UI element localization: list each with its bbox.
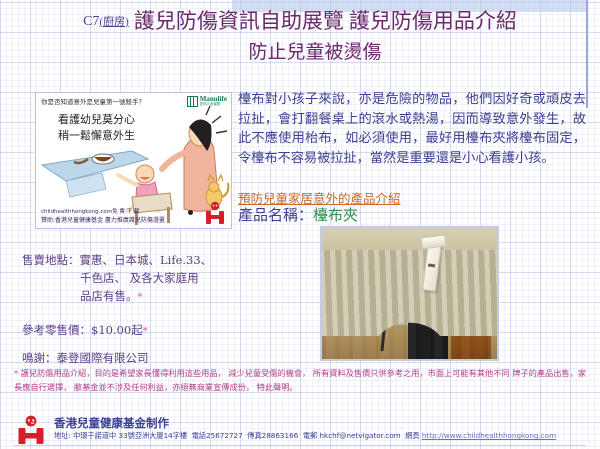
header-title-line-2: 防止兒童被燙傷 (0, 37, 600, 64)
disclaimer-text: * 護兒防傷用品介紹，目的是希望家長懂得利用這些用品， 減少兒童受傷的機會， 所… (14, 366, 586, 395)
acknowledgement-label: 鳴謝： (22, 351, 57, 365)
website-label: 網頁 (405, 431, 419, 440)
phone-value: 25672727 (206, 431, 243, 440)
email-value: hkchf@netvigator.com (320, 431, 401, 440)
clip-notch (428, 264, 435, 268)
product-name-value: 檯布夾 (313, 206, 358, 224)
selling-locations-line-2: 千色店、 及各大家庭用 (22, 270, 237, 288)
product-photo (320, 226, 499, 361)
address-value: 中環干諾道中 33號亞洲大廈14字樓 (73, 431, 187, 440)
photo-draped-cloth (322, 250, 497, 336)
page-footer: 香港兒童健康基金制作 地址: 中環干諾道中 33號亞洲大廈14字樓 電話2567… (14, 412, 586, 413)
acknowledgement-value: 泰登國際有限公司 (57, 351, 149, 365)
selling-locations-block: 售賣地點：實惠、日本城、Life.33、 千色店、 及各大家庭用 品店有售。* (22, 252, 237, 305)
header-title-line-1: C7(廚房) 護兒防傷資訊自助展覽 護兒防傷用品介紹 (0, 10, 600, 33)
organization-name: 香港兒童健康基金制作 (54, 415, 169, 431)
exhibit-code: C7(廚房) (83, 14, 129, 29)
chf-mascot-logo-icon (204, 201, 226, 225)
selling-locations-line-1: 售賣地點：實惠、日本城、Life.33、 (22, 252, 237, 270)
selling-locations-line-3: 品店有售。* (22, 288, 237, 306)
fax-label: 傳真 (247, 431, 261, 440)
safety-cartoon-panel: 你是否知道意外是兒童第一號殺手？ 看護幼兒莫分心 稍一鬆懈意外生 Manulif… (35, 92, 232, 229)
disclaimer-body: 護兒防傷用品介紹，目的是希望家長懂得利用這些用品， 減少兒童受傷的機會， 所有資… (14, 368, 586, 392)
email-label: 電郵 (303, 431, 317, 440)
footnote-star: * (143, 326, 148, 337)
cartoon-download-note: childhealthhongkong.com免 費 下 載 (41, 207, 139, 215)
price-block: 參考零售價：$10.00起* (22, 322, 148, 340)
page-title: 護兒防傷資訊自助展覽 (134, 9, 344, 33)
exhibit-code-location: (廚房) (99, 16, 128, 28)
page-header: C7(廚房) 護兒防傷資訊自助展覽 護兒防傷用品介紹 防止兒童被燙傷 (0, 10, 600, 64)
footer-contact-line: 地址: 中環干諾道中 33號亞洲大廈14字樓 電話25672727 傳真2886… (54, 431, 556, 441)
footnote-star: * (138, 292, 143, 303)
cartoon-page-dot (188, 210, 193, 215)
main-paragraph: 檯布對小孩子來說，亦是危險的物品，他們因好奇或頑皮去拉扯，會打翻餐桌上的滾水或熱… (238, 90, 586, 168)
address-label: 地址: (54, 431, 71, 440)
chf-footer-logo-icon (16, 415, 46, 445)
disclaimer-star: * (14, 368, 18, 378)
phone-label: 電話 (192, 431, 206, 440)
price-label: 參考零售價： (22, 323, 91, 337)
product-name-label: 產品名稱： (238, 206, 313, 224)
price-value: $10.00起 (91, 323, 143, 337)
product-name-line: 產品名稱：檯布夾 (238, 204, 358, 225)
page-subtitle: 護兒防傷用品介紹 (349, 9, 517, 33)
footer-divider (14, 445, 586, 446)
website-link[interactable]: http://www.childhealthhongkong.com (422, 431, 556, 440)
fax-value: 28863166 (262, 431, 299, 440)
cartoon-sponsor-note: 贊助:香港兒童健康基金 盡力推廣護兒防傷漫畫 (41, 215, 165, 224)
